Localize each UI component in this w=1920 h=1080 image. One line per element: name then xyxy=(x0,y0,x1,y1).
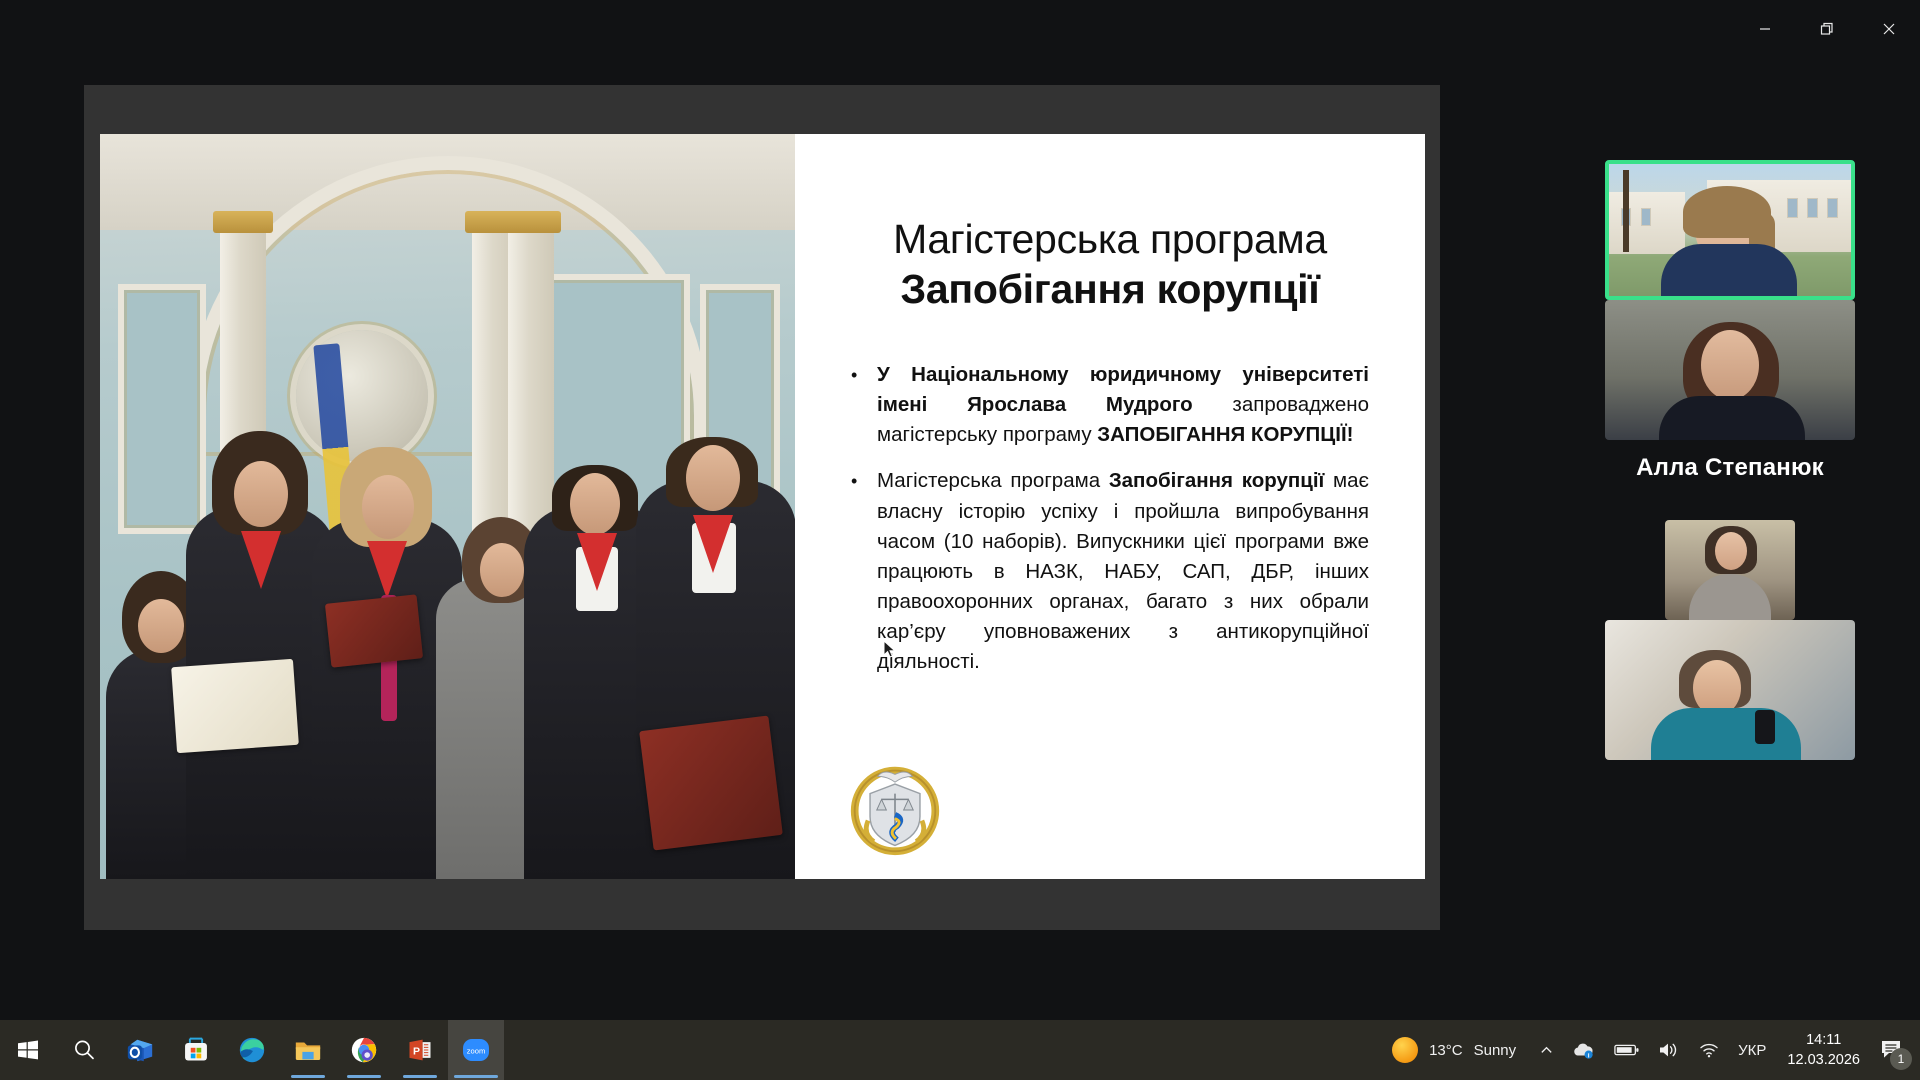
participant-tile-active-speaker[interactable] xyxy=(1605,160,1855,300)
folder-icon xyxy=(293,1035,323,1065)
weather-condition: Sunny xyxy=(1474,1042,1517,1059)
running-indicator xyxy=(347,1075,381,1078)
windows-icon xyxy=(16,1038,40,1062)
taskbar-file-explorer[interactable] xyxy=(280,1020,336,1080)
svg-text:i: i xyxy=(1588,1052,1590,1059)
start-button[interactable] xyxy=(0,1020,56,1080)
taskbar-edge[interactable] xyxy=(224,1020,280,1080)
show-hidden-icons-button[interactable] xyxy=(1530,1020,1563,1080)
sun-icon xyxy=(1392,1037,1418,1063)
weather-temperature: 13°C xyxy=(1429,1042,1463,1059)
taskbar-microsoft-store[interactable] xyxy=(168,1020,224,1080)
taskbar-zoom[interactable]: zoom xyxy=(448,1020,504,1080)
participant-tile-3[interactable] xyxy=(1665,520,1795,620)
search-button[interactable] xyxy=(56,1020,112,1080)
slide-bullet-list: • У Національному юридичному університет… xyxy=(851,360,1369,677)
battery-icon xyxy=(1614,1042,1640,1058)
slide-bullet-1: • У Національному юридичному університет… xyxy=(851,360,1369,450)
participant-video-strip: Алла Степанюк xyxy=(1605,160,1855,860)
windows-taskbar: P zoom 13°C Sunny i xyxy=(0,1020,1920,1080)
taskbar-chrome[interactable] xyxy=(336,1020,392,1080)
close-button[interactable] xyxy=(1858,0,1920,58)
university-emblem-icon xyxy=(847,761,943,857)
taskbar-powerpoint[interactable]: P xyxy=(392,1020,448,1080)
notification-badge: 1 xyxy=(1890,1048,1912,1070)
slide-bullet-2: • Магістерська програма Запобігання кору… xyxy=(851,466,1369,677)
language-indicator[interactable]: УКР xyxy=(1729,1020,1775,1080)
running-indicator xyxy=(403,1075,437,1078)
running-indicator xyxy=(454,1075,498,1078)
slide-text-pane: Магістерська програма Запобігання корупц… xyxy=(795,134,1425,879)
slide-title-line1: Магістерська програма xyxy=(893,216,1327,262)
wifi-icon xyxy=(1698,1041,1720,1059)
outlook-icon xyxy=(125,1035,155,1065)
taskbar-outlook[interactable] xyxy=(112,1020,168,1080)
network-tray-icon[interactable] xyxy=(1689,1020,1729,1080)
powerpoint-icon: P xyxy=(406,1036,434,1064)
restore-button[interactable] xyxy=(1796,0,1858,58)
svg-text:P: P xyxy=(413,1045,420,1057)
clock-date: 12.03.2026 xyxy=(1787,1050,1860,1070)
clock-time: 14:11 xyxy=(1806,1030,1841,1050)
bullet-marker-icon: • xyxy=(851,466,859,677)
clock-widget[interactable]: 14:11 12.03.2026 xyxy=(1775,1020,1872,1080)
presentation-slide: Магістерська програма Запобігання корупц… xyxy=(100,134,1425,879)
svg-text:zoom: zoom xyxy=(467,1046,486,1055)
system-tray: 13°C Sunny i xyxy=(1382,1020,1920,1080)
shared-screen-stage: Магістерська програма Запобігання корупц… xyxy=(84,85,1440,930)
active-speaker-name: Алла Степанюк xyxy=(1605,454,1855,482)
weather-widget[interactable]: 13°C Sunny xyxy=(1382,1020,1530,1080)
bullet-marker-icon: • xyxy=(851,360,859,450)
volume-icon xyxy=(1658,1041,1680,1059)
slide-title: Магістерська програма Запобігання корупц… xyxy=(851,214,1369,314)
minimize-button[interactable] xyxy=(1734,0,1796,58)
volume-tray-icon[interactable] xyxy=(1649,1020,1689,1080)
running-indicator xyxy=(291,1075,325,1078)
chrome-icon xyxy=(349,1035,379,1065)
slide-bullet-1-text: У Національному юридичному університеті … xyxy=(877,360,1369,450)
slide-bullet-2-text: Магістерська програма Запобігання корупц… xyxy=(877,466,1369,677)
participant-tile-4[interactable] xyxy=(1605,620,1855,760)
participant-tile-2[interactable] xyxy=(1605,300,1855,440)
notification-center-button[interactable]: 1 xyxy=(1872,1020,1920,1080)
zoom-icon: zoom xyxy=(460,1034,492,1066)
edge-icon xyxy=(237,1035,267,1065)
slide-title-line2: Запобігання корупції xyxy=(851,264,1369,314)
onedrive-icon: i xyxy=(1572,1040,1596,1060)
slide-photograph xyxy=(100,134,795,879)
zoom-meeting-window: Магістерська програма Запобігання корупц… xyxy=(0,0,1920,1020)
store-icon xyxy=(182,1036,210,1064)
chevron-up-icon xyxy=(1539,1043,1554,1058)
mouse-cursor xyxy=(883,640,897,660)
search-icon xyxy=(72,1038,96,1062)
onedrive-tray-icon[interactable]: i xyxy=(1563,1020,1605,1080)
battery-tray-icon[interactable] xyxy=(1605,1020,1649,1080)
window-titlebar xyxy=(0,0,1920,58)
